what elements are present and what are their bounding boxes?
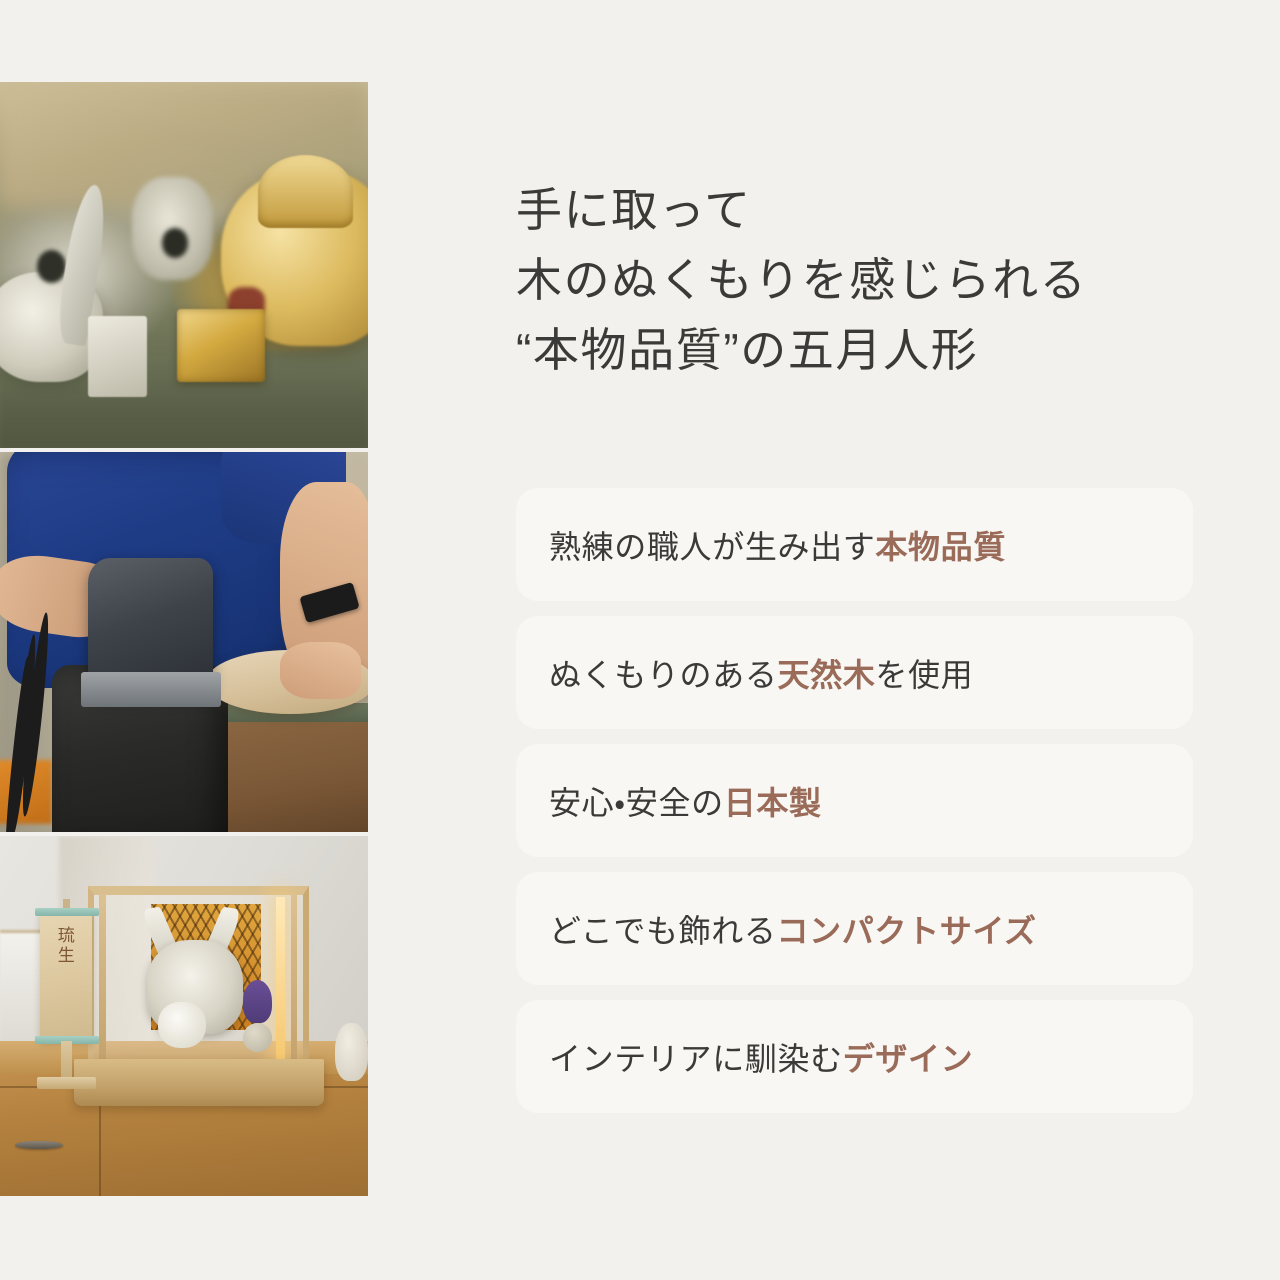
content-column: 手に取って 木のぬくもりを感じられる “本物品質”の五月人形 熟練の職人が生み出… [516, 0, 1193, 1280]
photo-column: 琉 生 [0, 82, 368, 1196]
feature-text-accent: デザイン [843, 1034, 974, 1080]
plaque-stand-post [61, 1041, 72, 1081]
chest-drawer-handle [15, 1141, 63, 1150]
feature-pill: どこでも飾れるコンパクトサイズ [516, 872, 1193, 985]
iris-flower [243, 980, 272, 1023]
armor-gold-ornament-box [177, 309, 265, 382]
photo-samurai-armor-parts [0, 82, 368, 448]
photo-kabuto-display-case: 琉 生 [0, 836, 368, 1196]
armor-gold-crest [258, 155, 354, 228]
photo-craftsman-sanding-wood [0, 452, 368, 832]
craftsman-right-hand [280, 642, 361, 699]
case-led-light [276, 897, 285, 1063]
workbench-body [213, 703, 368, 832]
feature-text-accent: 天然木 [777, 650, 875, 696]
feature-text-accent: 日本製 [724, 778, 822, 824]
armor-dark-accent-back [162, 228, 188, 257]
rabbit-figurine [335, 1023, 368, 1081]
feature-pill: 安心・安全の日本製 [516, 744, 1193, 857]
feature-text-trail: を使用 [875, 650, 973, 696]
feature-text-lead: 安心・安全の [549, 778, 724, 824]
armor-silver-plate [88, 316, 147, 397]
feature-text-lead: ぬくもりのある [549, 650, 777, 696]
feature-pill: ぬくもりのある天然木を使用 [516, 616, 1193, 729]
feature-list: 熟練の職人が生み出す本物品質 ぬくもりのある天然木を使用 安心・安全の日本製 ど… [516, 488, 1193, 1113]
headline-line-1: 手に取って [516, 176, 1193, 246]
name-plaque-text: 琉 生 [40, 922, 92, 1030]
name-plaque-char-2: 生 [58, 946, 75, 966]
kabuto-cord-tassel [158, 1002, 206, 1049]
name-plaque-char-1: 琉 [58, 926, 75, 946]
feature-pill: 熟練の職人が生み出す本物品質 [516, 488, 1193, 601]
feature-text-lead: インテリアに馴染む [549, 1034, 843, 1080]
feature-text-accent: 本物品質 [875, 522, 1006, 568]
case-post-right [291, 894, 298, 1074]
headline-line-2: 木のぬくもりを感じられる [516, 246, 1193, 316]
feature-text-lead: 熟練の職人が生み出す [549, 522, 875, 568]
page-headline: 手に取って 木のぬくもりを感じられる “本物品質”の五月人形 [516, 176, 1193, 386]
feature-text-lead: どこでも飾れる [549, 906, 777, 952]
plaque-stand-foot [37, 1077, 96, 1089]
headline-line-3: “本物品質”の五月人形 [516, 316, 1193, 386]
case-post-left [99, 894, 106, 1074]
plaque-bar-top [35, 908, 99, 916]
feature-text-accent: コンパクトサイズ [777, 906, 1037, 952]
feature-pill: インテリアに馴染むデザイン [516, 1000, 1193, 1113]
sander-pad [81, 672, 221, 706]
decorative-stone [243, 1023, 272, 1052]
case-wooden-base [74, 1059, 324, 1106]
